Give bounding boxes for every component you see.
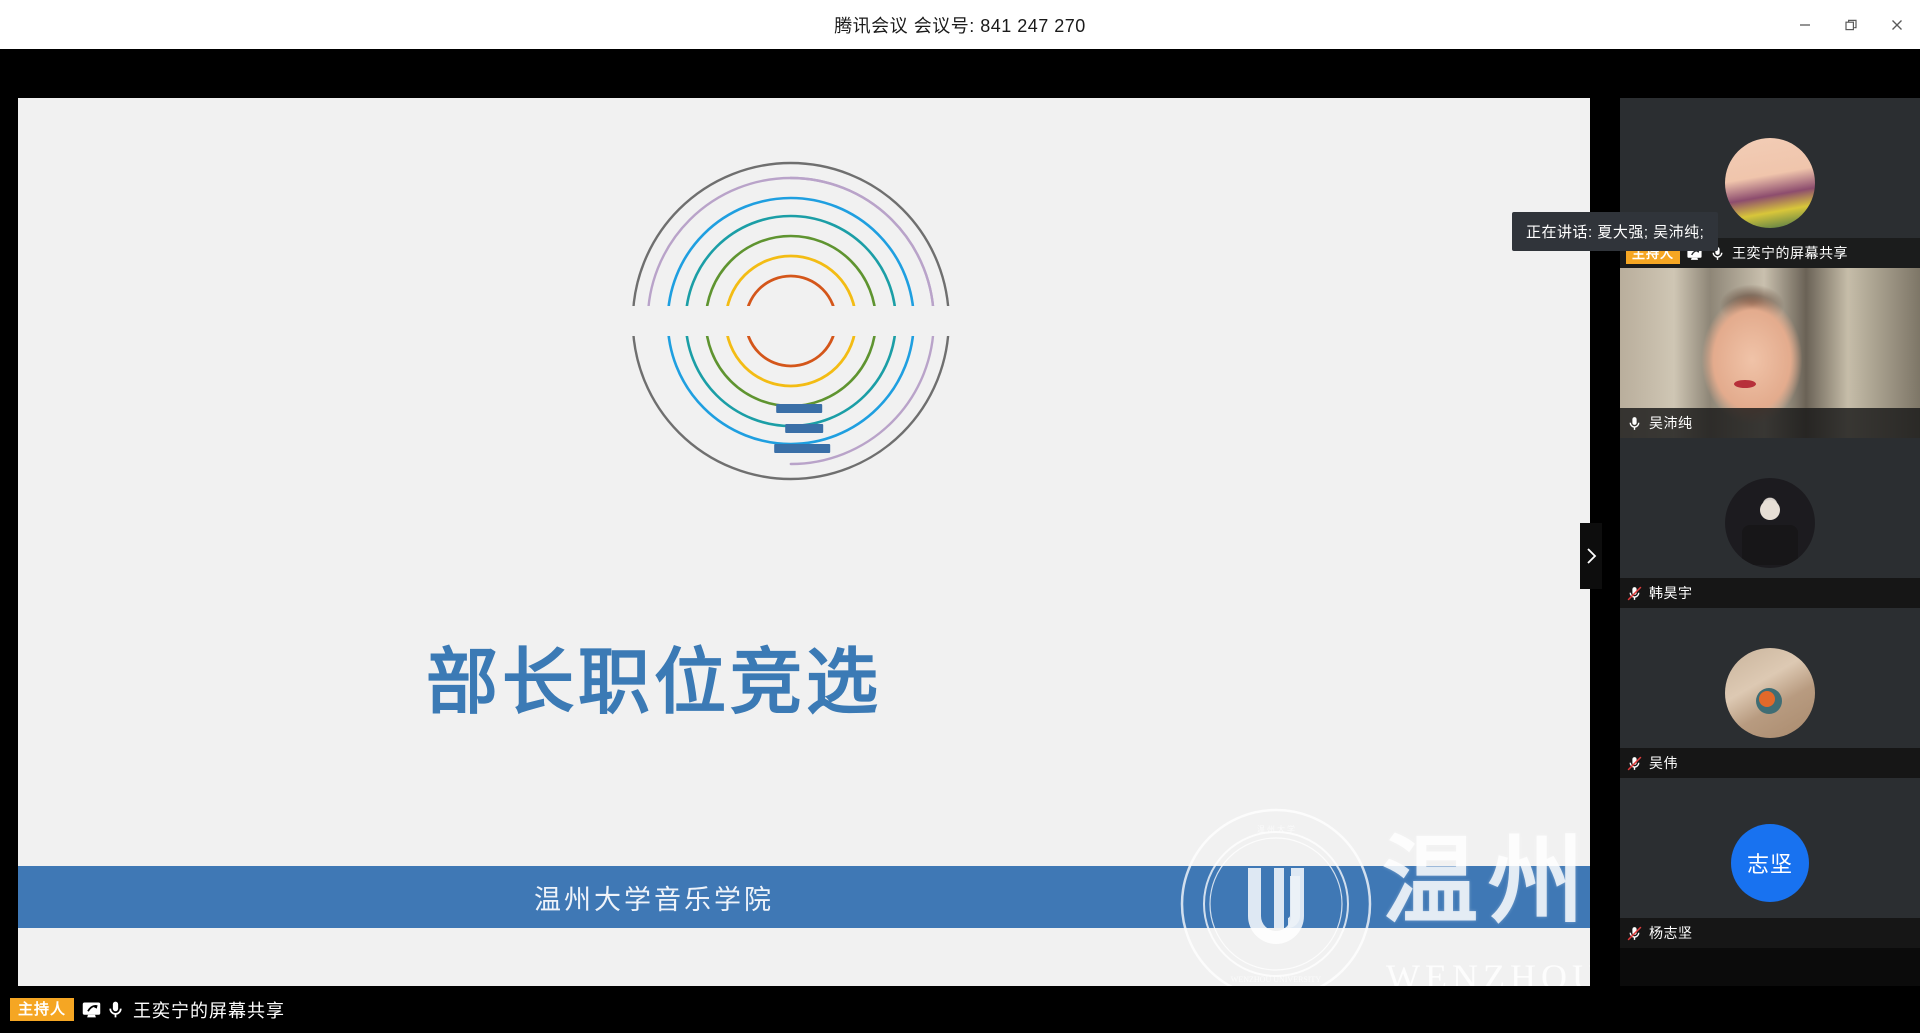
minimize-icon[interactable] — [1782, 0, 1828, 49]
slide-title: 部长职位竞选 — [18, 623, 1590, 728]
avatar-initials: 志坚 — [1731, 824, 1809, 902]
mic-on-icon — [1626, 415, 1643, 432]
close-icon[interactable] — [1874, 0, 1920, 49]
host-badge: 主持人 — [10, 998, 74, 1021]
slide-logo-bars — [766, 404, 836, 453]
sharing-user-name: 王奕宁的屏幕共享 — [133, 997, 285, 1023]
slide-footer-text: 温州大学音乐学院 — [534, 878, 774, 917]
tile-info-bar: 吴沛纯 — [1620, 408, 1920, 438]
mic-off-icon — [1626, 585, 1643, 602]
mic-off-icon — [1626, 925, 1643, 942]
participant-tile[interactable]: 志坚 杨志坚 — [1620, 778, 1920, 948]
window-title-bar: 腾讯会议 会议号: 841 247 270 — [0, 0, 1920, 49]
participant-tile[interactable]: 韩昊宇 — [1620, 438, 1920, 608]
meeting-body: 部长职位竞选 温州大学音乐学院 — [0, 49, 1920, 1033]
tile-info-bar: 吴伟 — [1620, 748, 1920, 778]
participant-tile[interactable]: 吴沛纯 — [1620, 268, 1920, 438]
tile-info-bar: 韩昊宇 — [1620, 578, 1920, 608]
tile-name: 吴伟 — [1649, 753, 1678, 773]
tile-name: 吴沛纯 — [1649, 413, 1693, 433]
shared-screen-stage[interactable]: 部长职位竞选 温州大学音乐学院 — [18, 98, 1590, 1010]
participant-tile[interactable]: 吴伟 — [1620, 608, 1920, 778]
avatar — [1725, 138, 1815, 228]
slide-footer-band: 温州大学音乐学院 — [18, 866, 1590, 928]
tile-info-bar: 杨志坚 — [1620, 918, 1920, 948]
tile-name: 韩昊宇 — [1649, 583, 1693, 603]
presentation-slide: 部长职位竞选 温州大学音乐学院 — [18, 98, 1590, 1010]
sharing-status-bar: 主持人 王奕宁的屏幕共享 — [0, 986, 1920, 1033]
window-title: 腾讯会议 会议号: 841 247 270 — [834, 12, 1086, 38]
tile-name: 王奕宁的屏幕共享 — [1732, 243, 1848, 263]
restore-icon[interactable] — [1828, 0, 1874, 49]
chevron-right-icon[interactable] — [1580, 523, 1602, 589]
mic-on-icon — [105, 999, 126, 1020]
avatar — [1725, 478, 1815, 568]
tile-name: 杨志坚 — [1649, 923, 1693, 943]
speaking-tooltip: 正在讲话: 夏大强; 吴沛纯; — [1512, 212, 1718, 251]
window-controls — [1782, 0, 1920, 49]
avatar — [1725, 648, 1815, 738]
status-icons — [81, 999, 126, 1020]
screen-share-icon — [81, 999, 102, 1020]
mic-off-icon — [1626, 755, 1643, 772]
